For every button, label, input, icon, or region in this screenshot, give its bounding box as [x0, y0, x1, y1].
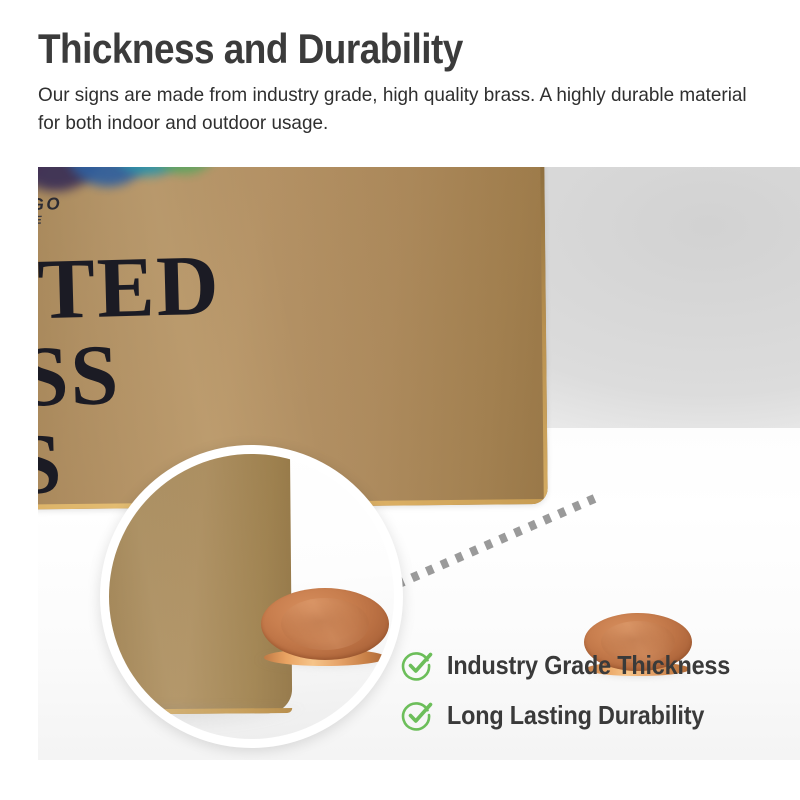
- header: Thickness and Durability Our signs are m…: [38, 24, 778, 137]
- sign-headline-line-2: ASS: [38, 331, 121, 421]
- check-circle-icon: [400, 648, 434, 682]
- feature-item: Long Lasting Durability: [400, 698, 762, 732]
- magnified-plate-shadow: [109, 706, 309, 732]
- magnified-brass-edge: [109, 454, 292, 715]
- sign-logo-subtext: CED HERE: [38, 215, 44, 229]
- page-subtitle: Our signs are made from industry grade, …: [38, 81, 756, 137]
- magnified-penny: [261, 588, 389, 660]
- magnified-detail-inset: [100, 445, 403, 748]
- sign-headline-line-1: NTED: [38, 242, 222, 334]
- magnified-penny-relief: [281, 598, 368, 650]
- magnified-penny-face: [261, 588, 389, 660]
- magnifier-inner: [109, 454, 394, 739]
- feature-list: Industry Grade Thickness Long Lasting Du…: [400, 648, 762, 732]
- sign-logo-text: UR LOGO: [38, 194, 62, 217]
- sign-headline-line-3: NS: [38, 420, 64, 509]
- check-circle-icon: [400, 698, 434, 732]
- feature-item: Industry Grade Thickness: [400, 648, 762, 682]
- feature-label: Long Lasting Durability: [447, 700, 704, 731]
- magnified-brass-sheen: [109, 454, 292, 715]
- page-title: Thickness and Durability: [38, 24, 689, 74]
- feature-label: Industry Grade Thickness: [447, 650, 730, 681]
